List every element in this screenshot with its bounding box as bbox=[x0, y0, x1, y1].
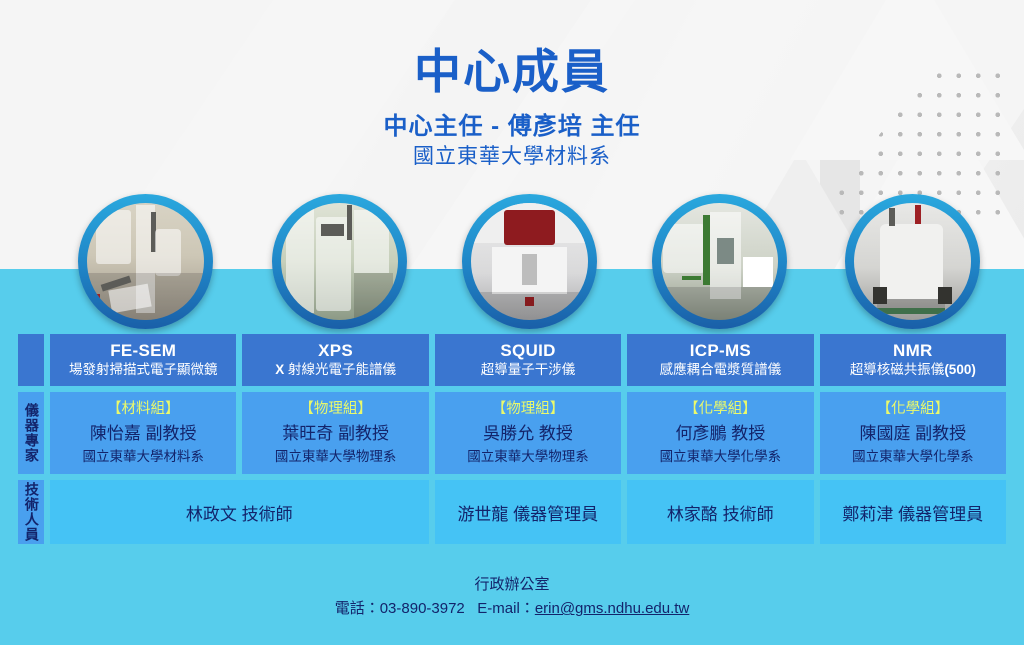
expert-department: 國立東華大學化學系 bbox=[852, 447, 974, 467]
expert-name: 葉旺奇 副教授 bbox=[282, 421, 389, 447]
table-row-instruments: FE-SEM 場發射掃描式電子顯微鏡 XPS X 射線光電子能譜儀 SQUID … bbox=[18, 334, 1006, 386]
expert-name: 陳怡嘉 副教授 bbox=[90, 421, 197, 447]
row-label-experts: 儀器專家 bbox=[18, 392, 44, 474]
expert-department: 國立東華大學化學系 bbox=[660, 447, 782, 467]
expert-department: 國立東華大學物理系 bbox=[275, 447, 397, 467]
center-director-department: 國立東華大學材料系 bbox=[0, 140, 1024, 170]
instrument-photo-row bbox=[0, 194, 1024, 329]
expert-cell-xps: 【物理組】 葉旺奇 副教授 國立東華大學物理系 bbox=[242, 392, 428, 474]
technician-cell-fe-sem-xps: 林政文 技術師 bbox=[50, 480, 429, 544]
center-director-line: 中心主任 - 傅彥培 主任 bbox=[0, 106, 1024, 141]
expert-cell-squid: 【物理組】 吳勝允 教授 國立東華大學物理系 bbox=[435, 392, 621, 474]
members-table: FE-SEM 場發射掃描式電子顯微鏡 XPS X 射線光電子能譜儀 SQUID … bbox=[18, 334, 1006, 544]
fe-sem-photo bbox=[87, 203, 204, 320]
expert-group: 【化學組】 bbox=[877, 399, 950, 421]
instrument-photo-circle-fe-sem bbox=[78, 194, 213, 329]
row-label-technicians: 技術人員 bbox=[18, 480, 44, 544]
expert-department: 國立東華大學物理系 bbox=[467, 447, 589, 467]
instrument-zh-name: 超導核磁共振儀(500) bbox=[850, 361, 976, 379]
contact-line: 電話：03-890-3972 E-mail：erin@gms.ndhu.edu.… bbox=[0, 596, 1024, 622]
instrument-photo-circle-xps bbox=[272, 194, 407, 329]
email-link[interactable]: erin@gms.ndhu.edu.tw bbox=[535, 600, 689, 617]
instrument-abbr: FE-SEM bbox=[110, 341, 176, 361]
instrument-zh-name: 場發射掃描式電子顯微鏡 bbox=[69, 361, 218, 379]
instrument-header-nmr: NMR 超導核磁共振儀(500) bbox=[820, 334, 1006, 386]
expert-name: 吳勝允 教授 bbox=[483, 421, 573, 447]
table-row-technicians: 技術人員 林政文 技術師 游世龍 儀器管理員 林家酪 技術師 鄭莉津 儀器管理員 bbox=[18, 480, 1006, 544]
xps-photo bbox=[281, 203, 398, 320]
expert-cell-icp-ms: 【化學組】 何彥鵬 教授 國立東華大學化學系 bbox=[627, 392, 813, 474]
instrument-header-squid: SQUID 超導量子干涉儀 bbox=[435, 334, 621, 386]
expert-group: 【物理組】 bbox=[492, 399, 565, 421]
instrument-header-fe-sem: FE-SEM 場發射掃描式電子顯微鏡 bbox=[50, 334, 236, 386]
email-label: E-mail： bbox=[477, 600, 535, 617]
row-label-instruments bbox=[18, 334, 44, 386]
instrument-abbr: NMR bbox=[893, 341, 933, 361]
instrument-zh-name: X 射線光電子能譜儀 bbox=[275, 361, 396, 379]
technician-cell-squid: 游世龍 儀器管理員 bbox=[435, 480, 621, 544]
expert-department: 國立東華大學材料系 bbox=[82, 447, 204, 467]
table-row-experts: 儀器專家 【材料組】 陳怡嘉 副教授 國立東華大學材料系 【物理組】 葉旺奇 副… bbox=[18, 392, 1006, 474]
phone-number: 03-890-3972 bbox=[380, 600, 465, 617]
technician-cell-icp-ms: 林家酪 技術師 bbox=[627, 480, 813, 544]
expert-group: 【材料組】 bbox=[107, 399, 180, 421]
phone-label: 電話： bbox=[335, 600, 380, 617]
instrument-photo-circle-icp-ms bbox=[652, 194, 787, 329]
instrument-zh-name: 感應耦合電漿質譜儀 bbox=[660, 361, 782, 379]
instrument-photo-circle-squid bbox=[462, 194, 597, 329]
expert-name: 陳國庭 副教授 bbox=[859, 421, 966, 447]
expert-cell-nmr: 【化學組】 陳國庭 副教授 國立東華大學化學系 bbox=[820, 392, 1006, 474]
page-title: 中心成員 bbox=[0, 33, 1024, 102]
expert-cell-fe-sem: 【材料組】 陳怡嘉 副教授 國立東華大學材料系 bbox=[50, 392, 236, 474]
instrument-abbr: SQUID bbox=[500, 341, 555, 361]
instrument-abbr: XPS bbox=[318, 341, 353, 361]
icp-ms-photo bbox=[661, 203, 778, 320]
footer-contact: 行政辦公室 電話：03-890-3972 E-mail：erin@gms.ndh… bbox=[0, 573, 1024, 623]
nmr-photo bbox=[854, 203, 971, 320]
instrument-zh-name: 超導量子干涉儀 bbox=[481, 361, 576, 379]
instrument-header-xps: XPS X 射線光電子能譜儀 bbox=[242, 334, 428, 386]
instrument-header-icp-ms: ICP-MS 感應耦合電漿質譜儀 bbox=[627, 334, 813, 386]
instrument-abbr: ICP-MS bbox=[690, 341, 751, 361]
instrument-photo-circle-nmr bbox=[845, 194, 980, 329]
expert-group: 【物理組】 bbox=[299, 399, 372, 421]
technician-cell-nmr: 鄭莉津 儀器管理員 bbox=[820, 480, 1006, 544]
squid-photo bbox=[471, 203, 588, 320]
expert-name: 何彥鵬 教授 bbox=[676, 421, 766, 447]
expert-group: 【化學組】 bbox=[684, 399, 757, 421]
office-name: 行政辦公室 bbox=[0, 573, 1024, 596]
